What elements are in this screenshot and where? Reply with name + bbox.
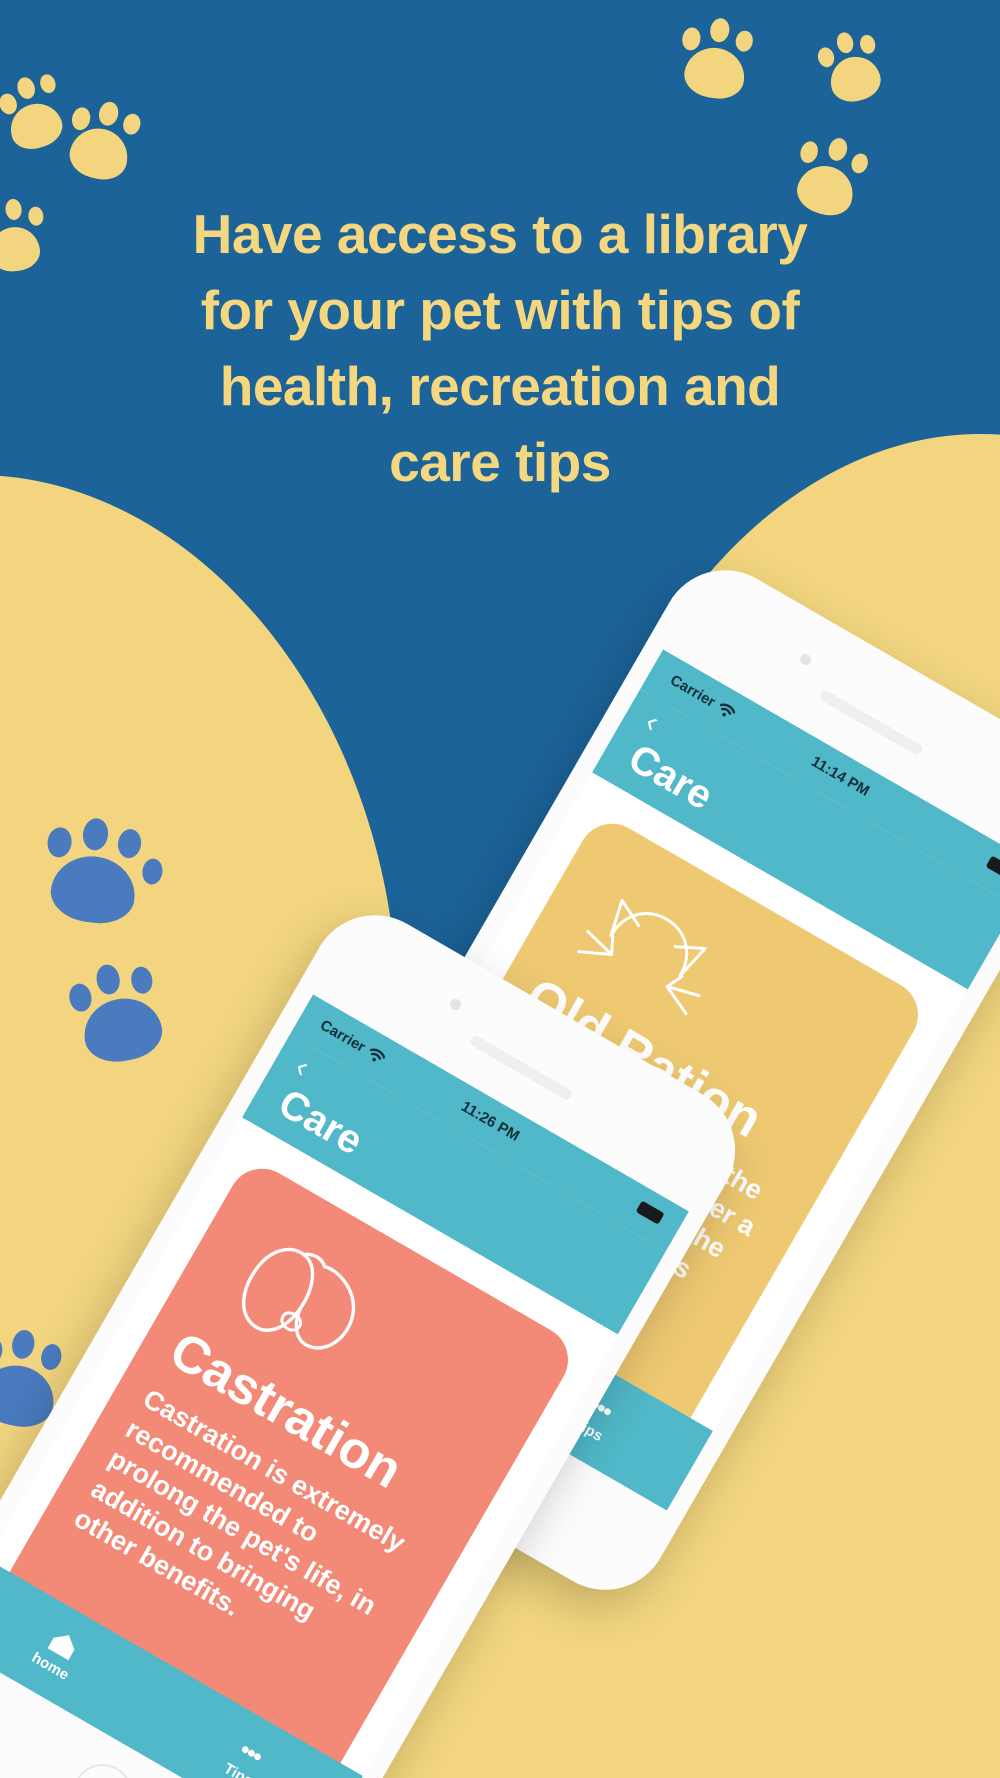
earpiece-speaker xyxy=(818,689,924,757)
earpiece-speaker xyxy=(468,1034,574,1102)
chevron-left-icon[interactable]: ‹ xyxy=(640,707,664,738)
carrier-label: Carrier xyxy=(667,672,718,711)
wifi-icon xyxy=(366,1046,387,1066)
page-headline: Have access to a library for your pet wi… xyxy=(190,196,810,500)
front-camera-icon xyxy=(798,652,813,667)
wifi-icon xyxy=(716,701,737,721)
battery-icon xyxy=(636,1200,665,1224)
home-button[interactable] xyxy=(63,1753,142,1778)
carrier-label: Carrier xyxy=(317,1017,368,1056)
chevron-left-icon[interactable]: ‹ xyxy=(290,1052,314,1083)
app-store-promo-screenshot: Have access to a library for your pet wi… xyxy=(0,0,1000,1778)
front-camera-icon xyxy=(448,997,463,1012)
battery-icon xyxy=(986,855,1000,879)
